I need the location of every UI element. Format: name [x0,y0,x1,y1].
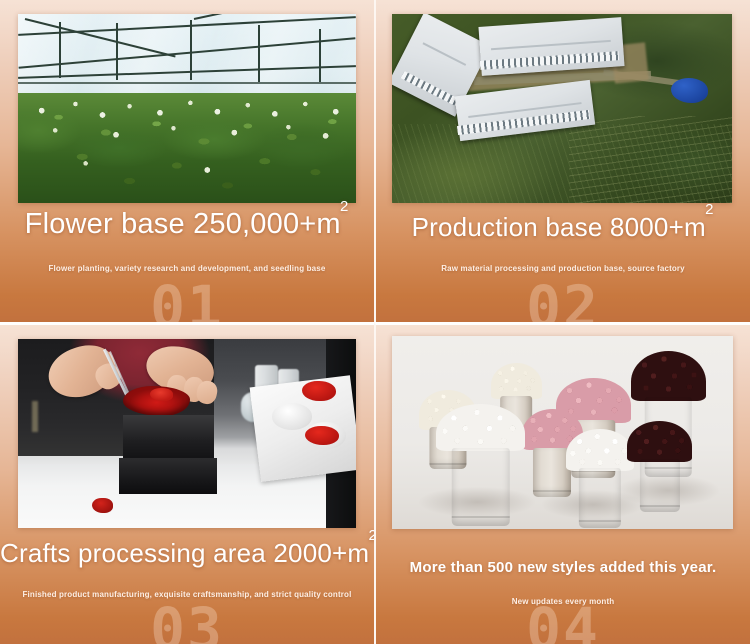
card-watermark-number: 02 [376,278,750,322]
card-headline-exponent: 2 [705,201,714,218]
card-headline-text: Crafts processing area 2000+m [0,538,369,568]
card-headline-exponent: 2 [340,198,349,215]
card-headline: Production base 8000+m2 [376,211,750,244]
crafts-processing-photo: tsu [18,339,356,528]
card-headline-text: More than 500 new styles added this year… [410,559,717,576]
capability-card-04[interactable]: More than 500 new styles added this year… [374,322,750,644]
card-watermark-number: 01 [0,278,374,322]
capability-card-02[interactable]: Production base 8000+m2 Raw material pro… [374,0,750,322]
card-watermark-number: 03 [0,600,374,644]
card-headline-text: Flower base 250,000+m [25,208,341,240]
card-subline: Raw material processing and production b… [376,264,750,273]
card-headline: More than 500 new styles added this year… [376,547,750,580]
card-subline: Flower planting, variety research and de… [0,264,374,273]
card-subline: New updates every month [376,597,750,606]
card-headline-text: Production base 8000+m [412,212,706,242]
rose-bouquet-styles-photo [392,336,733,529]
aerial-production-base-photo [392,14,732,203]
greenhouse-flower-base-photo [18,14,356,203]
card-headline: Crafts processing area 2000+m2 [0,537,374,570]
card-headline: Flower base 250,000+m2 [0,208,374,241]
capability-card-01[interactable]: Flower base 250,000+m2 Flower planting, … [0,0,374,322]
capability-grid: Flower base 250,000+m2 Flower planting, … [0,0,750,644]
capability-card-03[interactable]: tsu [0,322,374,644]
card-subline: Finished product manufacturing, exquisit… [0,590,374,599]
card-watermark-number: 04 [376,600,750,644]
